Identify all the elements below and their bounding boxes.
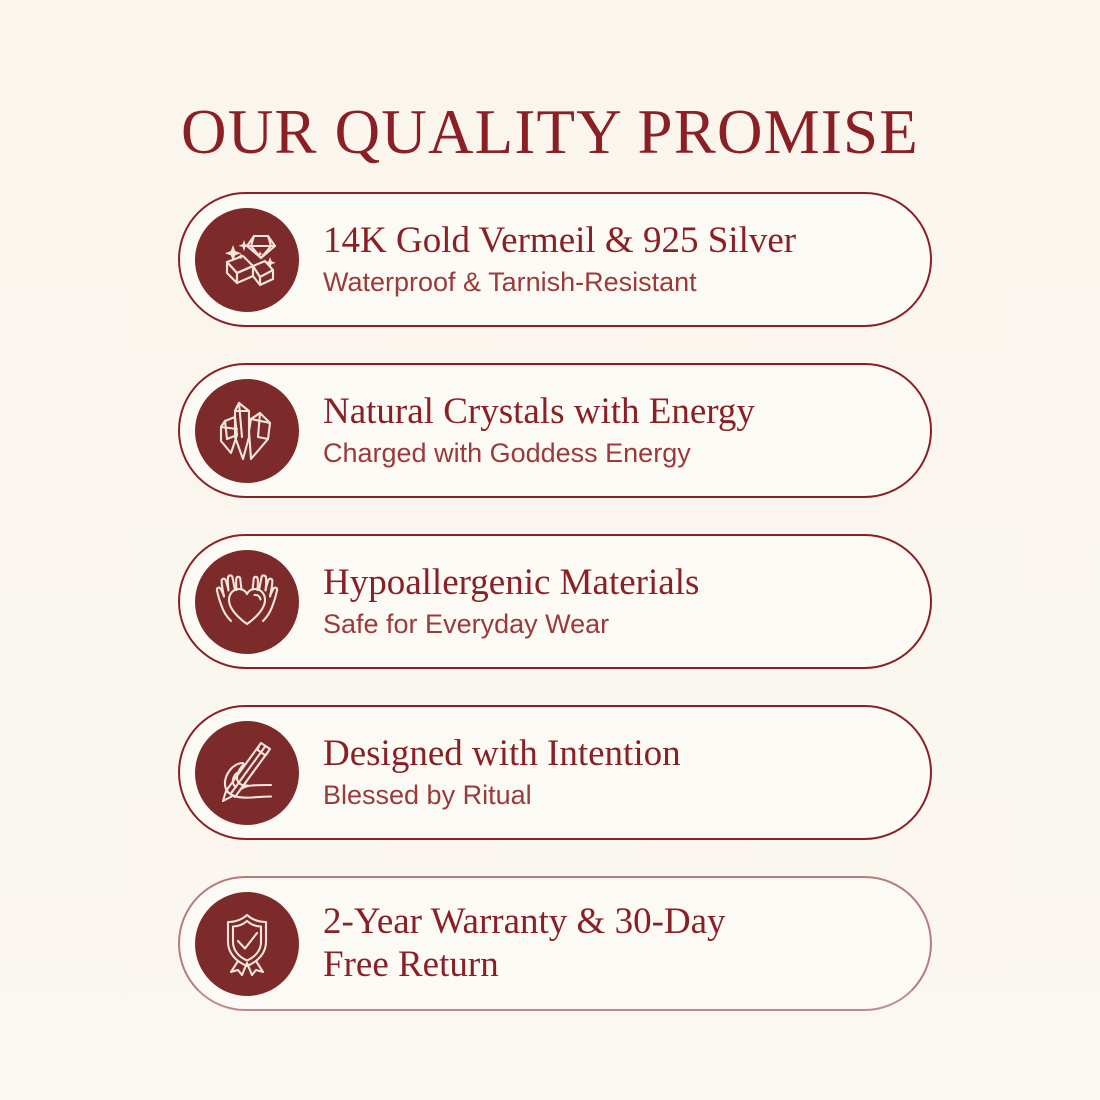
hands-heart-icon — [195, 550, 299, 654]
card-title: Natural Crystals with Energy — [323, 391, 755, 434]
card-subtitle: Waterproof & Tarnish-Resistant — [323, 266, 796, 300]
card-text: Natural Crystals with Energy Charged wit… — [323, 391, 781, 471]
shield-check-ribbon-icon — [195, 892, 299, 996]
card-title: 14K Gold Vermeil & 925 Silver — [323, 220, 796, 263]
promise-card-designed-intention[interactable]: Designed with Intention Blessed by Ritua… — [178, 705, 932, 840]
page-title: OUR QUALITY PROMISE — [0, 98, 1100, 167]
card-subtitle: Charged with Goddess Energy — [323, 437, 755, 471]
quality-promise-page: OUR QUALITY PROMISE — [0, 0, 1100, 1100]
card-text: Designed with Intention Blessed by Ritua… — [323, 733, 707, 813]
card-text: 2-Year Warranty & 30-Day Free Return — [323, 901, 752, 987]
promise-card-gold-vermeil[interactable]: 14K Gold Vermeil & 925 Silver Waterproof… — [178, 192, 932, 327]
card-subtitle: Blessed by Ritual — [323, 779, 681, 813]
promise-card-natural-crystals[interactable]: Natural Crystals with Energy Charged wit… — [178, 363, 932, 498]
card-subtitle: Safe for Everyday Wear — [323, 608, 699, 642]
diamond-gold-bars-icon — [195, 208, 299, 312]
promise-card-warranty-return[interactable]: 2-Year Warranty & 30-Day Free Return — [178, 876, 932, 1011]
card-text: 14K Gold Vermeil & 925 Silver Waterproof… — [323, 220, 822, 300]
card-title: Hypoallergenic Materials — [323, 562, 699, 605]
promise-card-hypoallergenic[interactable]: Hypoallergenic Materials Safe for Everyd… — [178, 534, 932, 669]
hand-pencil-icon — [195, 721, 299, 825]
promise-card-list: 14K Gold Vermeil & 925 Silver Waterproof… — [178, 192, 932, 1011]
card-text: Hypoallergenic Materials Safe for Everyd… — [323, 562, 725, 642]
card-title: 2-Year Warranty & 30-Day Free Return — [323, 901, 726, 987]
card-title: Designed with Intention — [323, 733, 681, 776]
crystal-cluster-icon — [195, 379, 299, 483]
